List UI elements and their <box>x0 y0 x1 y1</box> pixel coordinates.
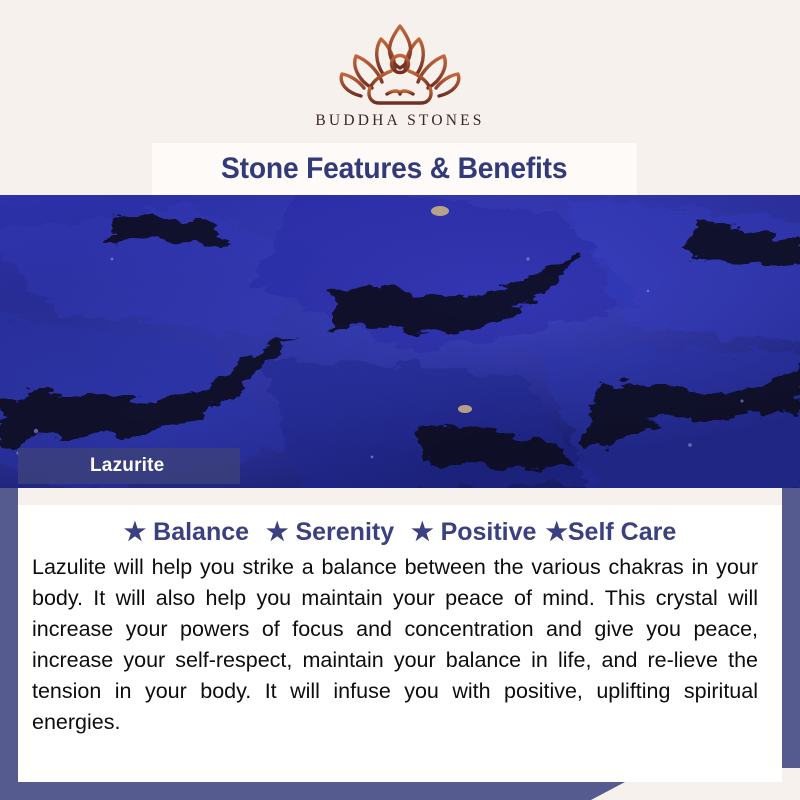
star-icon: ★ <box>411 518 433 546</box>
star-icon: ★ <box>124 518 146 546</box>
keyword-item-3: ★Self Care <box>545 518 676 547</box>
keyword-item-1: ★Serenity <box>266 518 394 547</box>
keyword-item-2: ★Positive <box>411 518 536 547</box>
stone-name-label: Lazurite <box>90 455 164 477</box>
brand-logo: BUDDHA STONES <box>0 18 800 130</box>
lapis-lazuli-stone-photo <box>0 195 800 488</box>
content-panel: ★Balance ★Serenity ★Positive ★Self Care … <box>18 488 782 782</box>
stone-name-badge: Lazurite <box>18 448 240 484</box>
keyword-label: Positive <box>441 518 537 546</box>
header-section: BUDDHA STONES Stone Features & Benefits <box>0 0 800 196</box>
frame-band-bottom <box>0 782 625 800</box>
star-icon: ★ <box>545 518 567 546</box>
stone-photo <box>0 195 800 488</box>
title-plate: Stone Features & Benefits <box>152 143 637 195</box>
lotus-buddha-icon <box>325 18 475 110</box>
description-text: Lazulite will help you strike a balance … <box>32 552 758 738</box>
keyword-item-0: ★Balance <box>124 518 249 547</box>
keyword-list: ★Balance ★Serenity ★Positive ★Self Care <box>18 518 782 547</box>
infographic-card: BUDDHA STONES Stone Features & Benefits <box>0 0 800 800</box>
star-icon: ★ <box>266 518 288 546</box>
keyword-label: Self Care <box>568 518 676 546</box>
page-title: Stone Features & Benefits <box>221 152 567 186</box>
frame-band-left <box>0 485 18 800</box>
keyword-label: Balance <box>153 518 249 546</box>
brand-name: BUDDHA STONES <box>315 112 484 130</box>
keyword-label: Serenity <box>295 518 394 546</box>
content-top-strip <box>18 488 782 505</box>
